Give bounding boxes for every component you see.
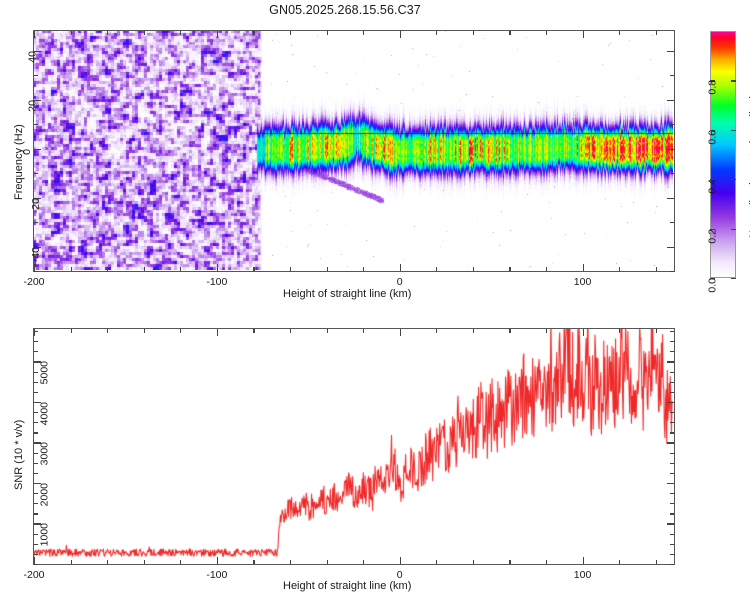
snr-x-axis-title: Height of straight line (km)	[283, 580, 411, 592]
x-tick-label: -100	[206, 276, 227, 288]
snr-panel	[33, 328, 675, 565]
snr-y-axis-title: SNR (10 * v/v)	[13, 420, 25, 490]
colorbar	[710, 31, 736, 278]
colorbar-tick-label: 0.0	[707, 278, 719, 293]
snr-line-plot	[34, 329, 673, 563]
x-tick-label: -100	[206, 569, 227, 581]
x-tick-label: 0	[397, 276, 403, 288]
spectrogram-x-axis-title: Height of straight line (km)	[283, 288, 411, 300]
x-tick-label: -200	[23, 276, 44, 288]
x-tick-label: 100	[574, 276, 592, 288]
spectrogram-panel	[33, 30, 675, 272]
figure-root: GN05.2025.268.15.56.C37 -200-1000100-40-…	[0, 0, 750, 600]
colorbar-gradient	[711, 32, 735, 277]
spectrogram-image	[34, 31, 673, 270]
colorbar-tick	[710, 278, 715, 279]
page-title: GN05.2025.268.15.56.C37	[0, 3, 690, 17]
spectrogram-y-axis-title: Frequency (Hz)	[13, 124, 25, 200]
x-tick-label: 100	[574, 569, 592, 581]
colorbar-tick-right	[731, 278, 736, 279]
x-tick-label: -200	[23, 569, 44, 581]
